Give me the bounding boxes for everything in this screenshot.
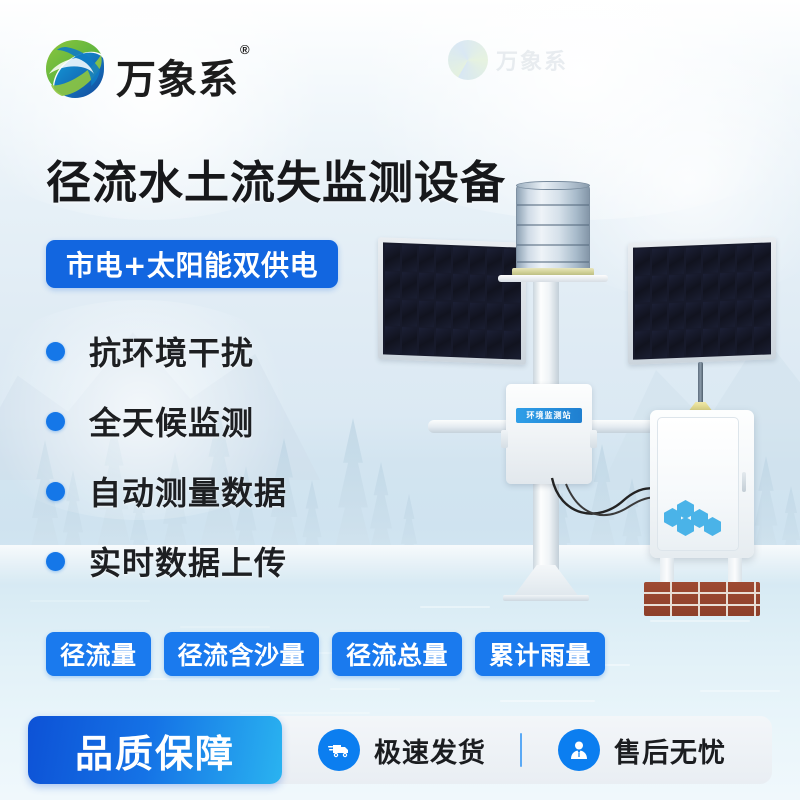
solar-cell [385, 327, 401, 354]
solar-cell [635, 276, 651, 303]
power-supply-badge: 市电+太阳能双供电 [46, 240, 338, 288]
solar-cell [436, 273, 452, 300]
water-ripple [60, 678, 220, 680]
measurement-tag-label: 径流量 [60, 636, 137, 672]
bullet-dot-icon [46, 412, 65, 431]
solar-cell [652, 248, 668, 275]
product-illustration: 环境监测站 [370, 180, 790, 640]
solar-cell [703, 273, 719, 300]
solar-cell [402, 300, 418, 327]
solar-cell [669, 330, 685, 357]
solar-cell [402, 272, 418, 299]
solar-cell [652, 275, 668, 302]
feature-item: 全天候监测 [46, 386, 366, 456]
power-supply-badge-label: 市电+太阳能双供电 [66, 244, 318, 284]
solar-cell [470, 302, 486, 329]
box-mount-ear [501, 430, 508, 448]
measurement-tag-label: 径流总量 [346, 636, 448, 672]
cabinet-leg [728, 558, 742, 584]
solar-cell [737, 300, 753, 327]
gauge-band [517, 261, 589, 263]
product-poster: 万象系 环境监测站 [0, 0, 800, 800]
feature-list: 抗环境干扰全天候监测自动测量数据实时数据上传 [46, 316, 366, 596]
solar-cell [436, 301, 452, 328]
solar-cell [720, 328, 736, 355]
solar-cell [436, 329, 452, 356]
feature-item-label: 实时数据上传 [89, 538, 287, 584]
trademark-symbol: ® [240, 42, 250, 57]
solar-cell [737, 327, 753, 354]
water-ripple [330, 688, 400, 690]
service-item-label: 售后无忧 [614, 731, 726, 770]
swirl-globe-logo-icon [44, 38, 106, 100]
solar-cell [453, 247, 469, 274]
gauge-band [517, 224, 589, 226]
solar-cell [487, 331, 503, 358]
solar-cell [635, 304, 651, 331]
solar-cell [754, 327, 770, 354]
water-ripple [30, 600, 150, 602]
solar-cell [419, 245, 435, 272]
quality-guarantee-badge: 品质保障 [28, 716, 282, 784]
solar-cell [402, 245, 418, 272]
solar-cell [720, 245, 736, 272]
delivery-truck-icon [318, 729, 360, 771]
feature-item-label: 自动测量数据 [89, 468, 287, 514]
solar-cell [669, 247, 685, 274]
solar-cell [686, 274, 702, 301]
antenna-rod [698, 362, 703, 404]
water-ripple [700, 690, 780, 692]
solar-cell [686, 302, 702, 329]
brand-name: 万象系 [116, 47, 239, 105]
water-ripple [180, 626, 270, 628]
quality-guarantee-label: 品质保障 [75, 723, 235, 778]
equipment-cabinet [650, 410, 754, 558]
feature-item-label: 全天候监测 [89, 398, 254, 444]
gauge-band [517, 204, 589, 206]
solar-cell [504, 304, 520, 331]
solar-cell-grid [383, 242, 521, 359]
solar-panel-left [378, 237, 526, 365]
solar-panel-right [628, 237, 776, 365]
solar-cell [703, 246, 719, 273]
service-divider [520, 733, 522, 767]
solar-cell [470, 247, 486, 274]
solar-cell [487, 248, 503, 275]
solar-cell [737, 272, 753, 299]
solar-cell [686, 329, 702, 356]
solar-cell-grid [633, 242, 771, 359]
solar-cell [487, 303, 503, 330]
solar-cell [720, 273, 736, 300]
measurement-tag-list: 径流量径流含沙量径流总量累计雨量 [46, 632, 605, 676]
solar-cell [453, 302, 469, 329]
solar-cell [635, 331, 651, 358]
measurement-tag[interactable]: 径流量 [46, 632, 151, 676]
solar-cell [754, 244, 770, 271]
bullet-dot-icon [46, 552, 65, 571]
cabinet-handle [742, 472, 746, 492]
service-bar: 品质保障 极速发货 [28, 716, 772, 784]
solar-cell [635, 248, 651, 275]
solar-cell [419, 300, 435, 327]
solar-cell [652, 331, 668, 358]
solar-cell [419, 328, 435, 355]
page-title: 径流水土流失监测设备 [46, 146, 506, 211]
feature-item: 实时数据上传 [46, 526, 366, 596]
hexagon-decal-group [664, 498, 726, 536]
solar-cell [737, 245, 753, 272]
feature-item: 自动测量数据 [46, 456, 366, 526]
control-box: 环境监测站 [506, 384, 592, 484]
bullet-dot-icon [46, 482, 65, 501]
rain-gauge-cylinder [516, 185, 590, 271]
service-item-fast-shipping: 极速发货 [318, 729, 486, 771]
control-box-label-text: 环境监测站 [527, 410, 572, 421]
solar-cell [720, 300, 736, 327]
solar-cell [703, 329, 719, 356]
water-ripple [500, 700, 595, 702]
solar-cell [686, 247, 702, 274]
bullet-dot-icon [46, 342, 65, 361]
solar-cell [669, 275, 685, 302]
solar-cell [470, 330, 486, 357]
box-mount-ear [590, 430, 597, 448]
feature-item-label: 抗环境干扰 [89, 328, 254, 374]
solar-cell [419, 273, 435, 300]
solar-cell [385, 272, 401, 299]
feature-item: 抗环境干扰 [46, 316, 366, 386]
mast-base [513, 565, 579, 597]
measurement-tag-label: 累计雨量 [489, 636, 591, 672]
measurement-tag[interactable]: 累计雨量 [475, 632, 605, 676]
solar-cell [453, 329, 469, 356]
solar-cell [470, 275, 486, 302]
solar-cell [436, 246, 452, 273]
solar-cell [385, 299, 401, 326]
solar-cell [453, 274, 469, 301]
gauge-band [517, 244, 589, 246]
cabinet-leg [660, 558, 674, 584]
service-item-after-sales: 售后无忧 [558, 729, 726, 771]
solar-cell [754, 299, 770, 326]
solar-cell [385, 244, 401, 271]
solar-cell [754, 272, 770, 299]
solar-cell [402, 327, 418, 354]
solar-cell [669, 302, 685, 329]
service-item-label: 极速发货 [374, 731, 486, 770]
solar-cell [652, 303, 668, 330]
measurement-tag[interactable]: 径流含沙量 [164, 632, 320, 676]
gauge-mount-plate [498, 275, 608, 282]
customer-service-person-icon [558, 729, 600, 771]
control-box-label: 环境监测站 [516, 408, 582, 423]
mast-foot-plate [503, 595, 589, 601]
gauge-top-rim [516, 181, 590, 190]
solar-cell [504, 331, 520, 358]
brand-logo: 万象系 ® [44, 34, 274, 104]
measurement-tag-label: 径流含沙量 [178, 636, 306, 672]
brick-foundation [644, 582, 760, 616]
measurement-tag[interactable]: 径流总量 [332, 632, 462, 676]
water-ripple [240, 712, 370, 714]
solar-cell [703, 301, 719, 328]
